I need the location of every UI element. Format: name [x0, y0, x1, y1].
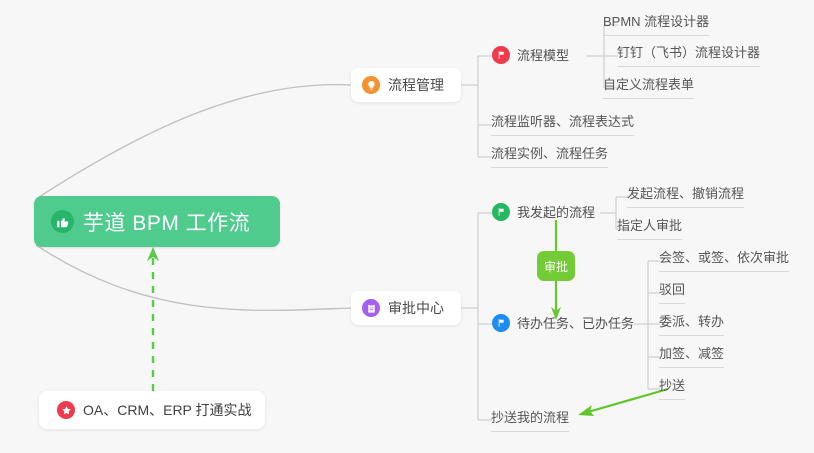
lightbulb-icon	[362, 76, 380, 94]
flag-icon	[492, 203, 510, 221]
leaf-countersign-orsign-sequential[interactable]: 会签、或签、依次审批	[659, 247, 789, 272]
thumbs-up-icon	[51, 210, 74, 233]
leaf-cc-to-me-process[interactable]: 抄送我的流程	[491, 407, 569, 432]
leaf-add-remove-sign[interactable]: 加签、减签	[659, 343, 724, 368]
flag-icon	[492, 46, 510, 64]
approval-flow-badge-label: 审批	[544, 258, 568, 275]
leaf-designated-approver[interactable]: 指定人审批	[617, 215, 682, 240]
root-node[interactable]: 芋道 BPM 工作流	[34, 196, 280, 247]
topic-todo-done-tasks[interactable]: 待办任务、已办任务	[492, 313, 634, 332]
leaf-dingtalk-feishu-designer[interactable]: 钉钉（飞书）流程设计器	[617, 42, 760, 67]
approval-flow-badge: 审批	[537, 251, 575, 281]
branch-node-process-management[interactable]: 流程管理	[351, 68, 461, 102]
branch-label-approval-center: 审批中心	[388, 298, 444, 318]
topic-my-initiated-process[interactable]: 我发起的流程	[492, 202, 595, 221]
leaf-bpmn-designer[interactable]: BPMN 流程设计器	[603, 11, 709, 36]
branch-node-approval-center[interactable]: 审批中心	[351, 291, 461, 325]
leaf-delegate-transfer[interactable]: 委派、转办	[659, 311, 724, 336]
leaf-custom-process-form[interactable]: 自定义流程表单	[603, 74, 694, 99]
leaf-carbon-copy[interactable]: 抄送	[659, 375, 685, 400]
leaf-process-listener-expression[interactable]: 流程监听器、流程表达式	[491, 111, 634, 136]
topic-label-process-model: 流程模型	[517, 45, 569, 64]
leaf-initiate-cancel-process[interactable]: 发起流程、撤销流程	[627, 183, 744, 208]
leaf-process-instance-task[interactable]: 流程实例、流程任务	[491, 143, 608, 168]
topic-label-my-initiated-process: 我发起的流程	[517, 202, 595, 221]
topic-process-model[interactable]: 流程模型	[492, 45, 569, 64]
clipboard-icon	[362, 299, 380, 317]
note-label-integration: OA、CRM、ERP 打通实战	[83, 400, 252, 420]
flag-icon	[492, 314, 510, 332]
leaf-reject[interactable]: 驳回	[659, 279, 685, 304]
star-icon	[57, 401, 75, 419]
note-node-integration[interactable]: OA、CRM、ERP 打通实战	[39, 391, 265, 429]
mindmap-canvas: 芋道 BPM 工作流 流程管理 审批中心	[0, 0, 814, 453]
topic-label-todo-done-tasks: 待办任务、已办任务	[517, 313, 634, 332]
root-label: 芋道 BPM 工作流	[83, 207, 250, 237]
branch-label-process-management: 流程管理	[388, 75, 444, 95]
